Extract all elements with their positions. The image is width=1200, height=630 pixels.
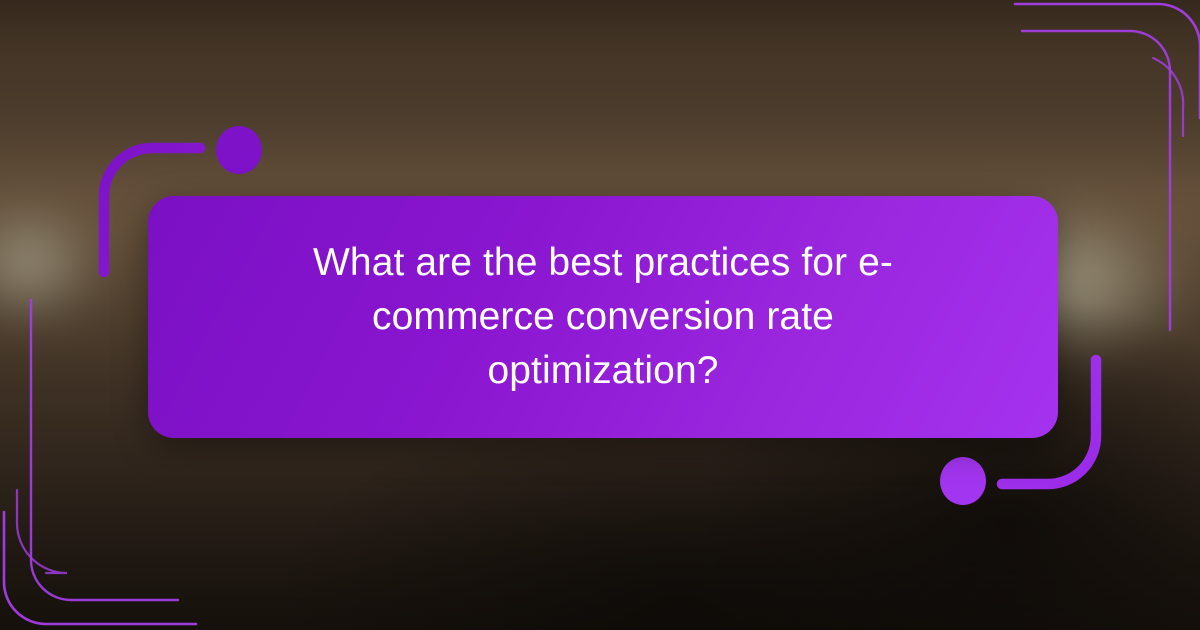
question-text: What are the best practices for e-commer… xyxy=(253,236,953,398)
question-card: What are the best practices for e-commer… xyxy=(148,196,1058,438)
share-card-canvas: What are the best practices for e-commer… xyxy=(0,0,1200,630)
